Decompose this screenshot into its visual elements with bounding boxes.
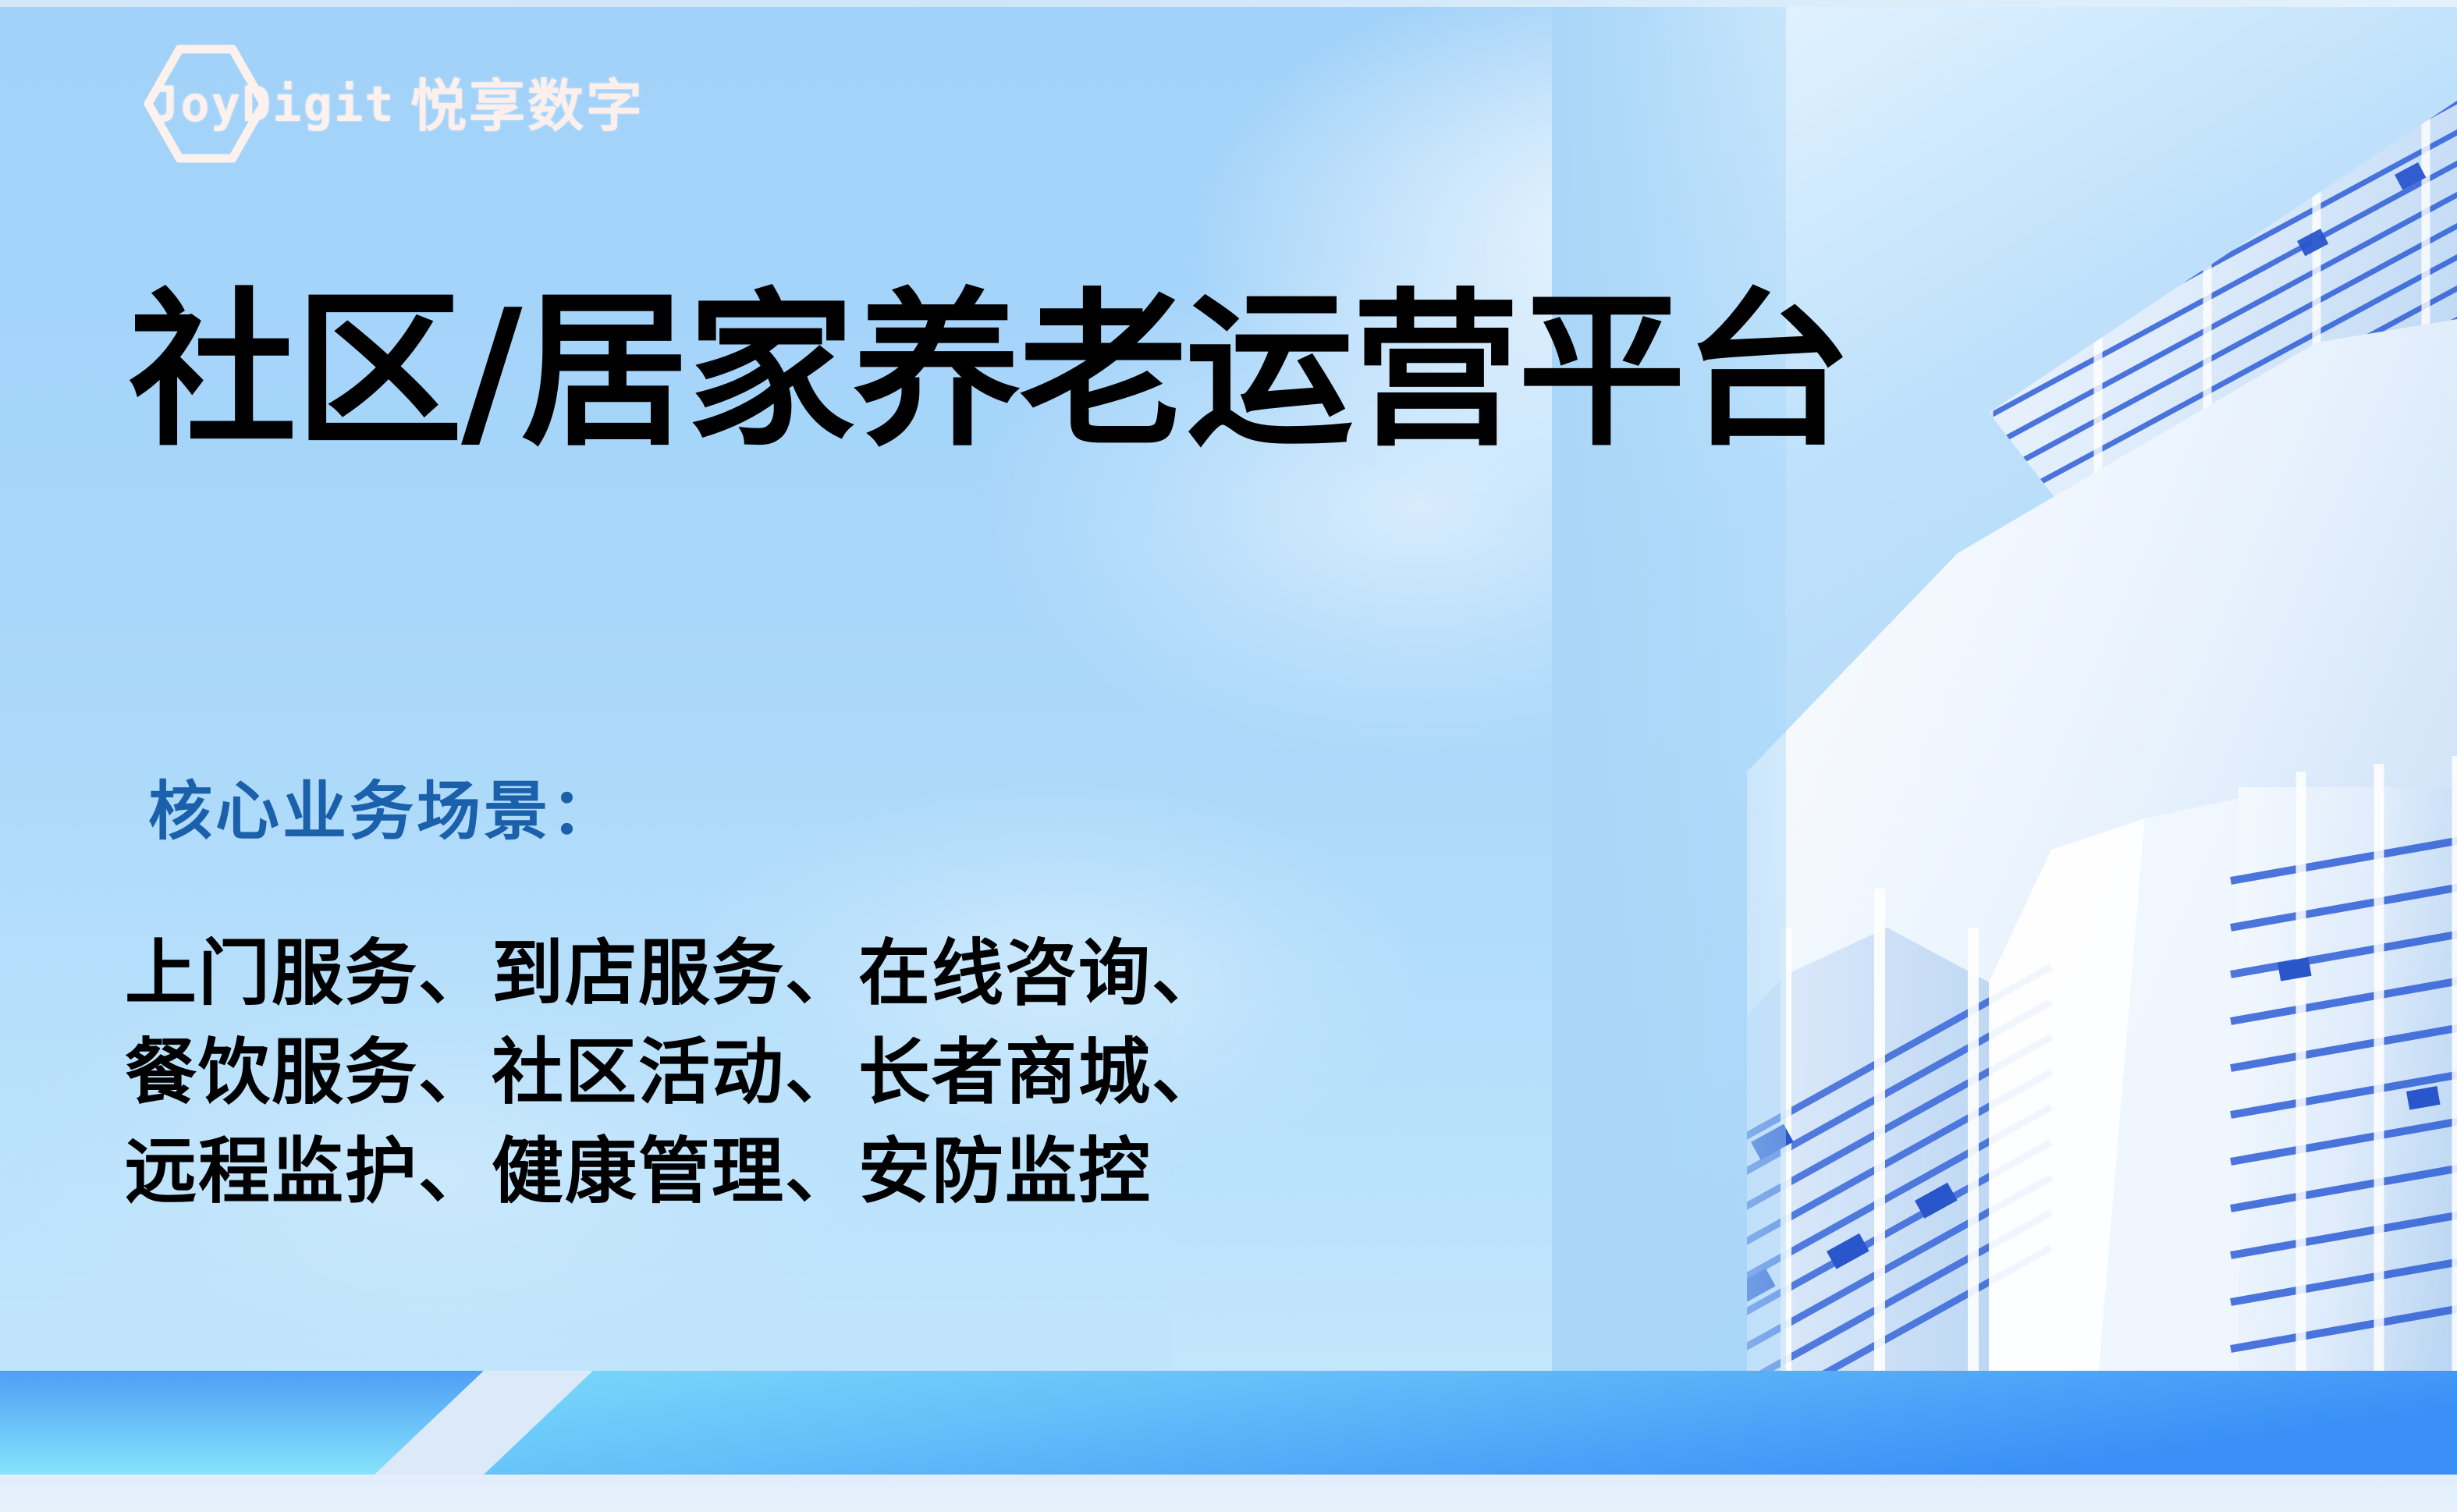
logo-wordmark-cn: 悦享数字 <box>410 79 644 135</box>
scenario-line: 上门服务、到店服务、在线咨询、 <box>125 925 1225 1024</box>
bottom-blue-band <box>0 1371 2457 1475</box>
blue-skyscraper-photo <box>1552 7 2457 1380</box>
scenario-list: 上门服务、到店服务、在线咨询、 餐饮服务、社区活动、长者商城、 远程监护、健康管… <box>125 925 1225 1222</box>
skyscraper-illustration <box>1552 7 2457 1380</box>
section-subheading: 核心业务场景： <box>148 780 618 844</box>
scenario-line: 餐饮服务、社区活动、长者商城、 <box>125 1024 1225 1123</box>
scenario-line: 远程监护、健康管理、安防监控 <box>125 1123 1225 1222</box>
logo-wordmark: JoyDigit <box>150 80 396 129</box>
presentation-slide: JoyDigit 悦享数字 社区/居家养老运营平台 核心业务场景： 上门服务、到… <box>0 0 2457 1512</box>
hexagon-logo-mark: JoyDigit <box>139 41 273 166</box>
brand-logo[interactable]: JoyDigit 悦享数字 <box>139 61 644 147</box>
bottom-band-shape <box>0 1371 2457 1475</box>
top-accent-strip <box>0 0 2457 7</box>
page-title: 社区/居家养老运营平台 <box>129 281 1851 462</box>
